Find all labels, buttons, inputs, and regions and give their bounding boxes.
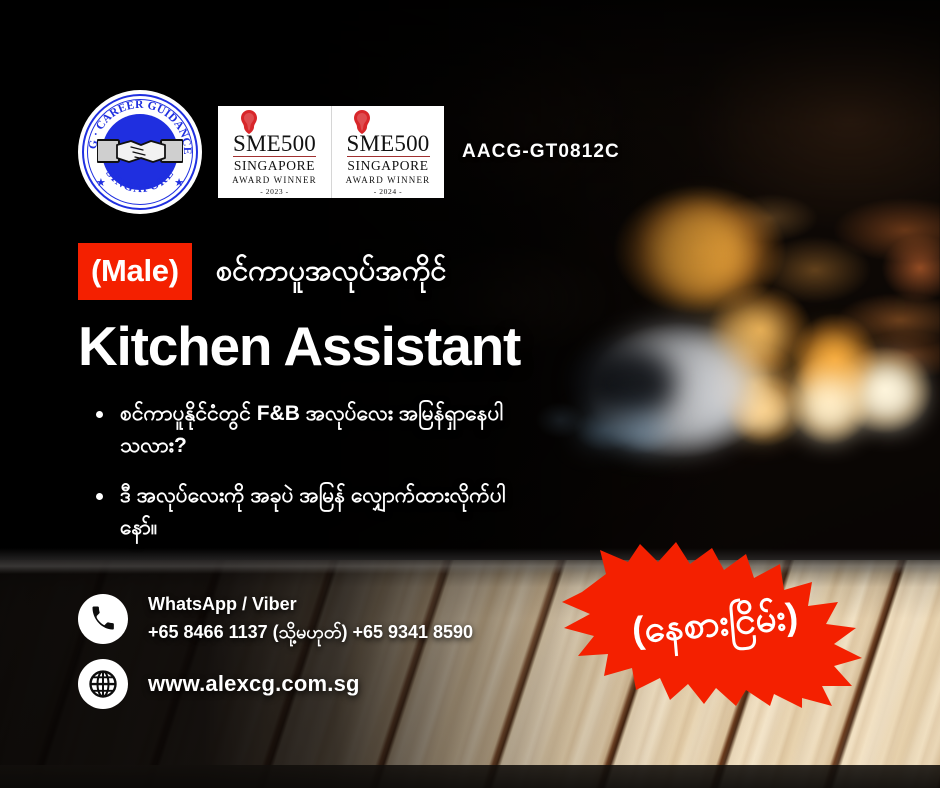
award-title: SME500 — [233, 132, 316, 157]
globe-icon[interactable] — [78, 659, 128, 709]
award-title: SME500 — [347, 132, 430, 157]
phone-text-group: WhatsApp / Viber +65 8466 1137 (သို့မဟုတ… — [148, 593, 473, 645]
contact-row-website[interactable]: www.alexcg.com.sg — [78, 659, 473, 709]
messaging-apps-label: WhatsApp / Viber — [148, 593, 473, 616]
job-title: Kitchen Assistant — [78, 318, 520, 376]
seal-star-right: ★ — [174, 178, 184, 189]
category-row: (Male) စင်ကာပူအလုပ်အကိုင် — [78, 243, 446, 300]
lion-head-icon — [351, 109, 373, 135]
poster-content: ALEX AUNG · CAREER GUIDANCE SERVICE SING… — [0, 0, 940, 788]
contact-block: WhatsApp / Viber +65 8466 1137 (သို့မဟုတ… — [78, 593, 473, 723]
seal-star-left: ★ — [96, 178, 106, 189]
lion-head-icon — [238, 109, 260, 135]
award-badge-2023: SME500 SINGAPORE AWARD WINNER - 2023 - — [218, 106, 331, 198]
list-item: ဒီ အလုပ်လေးကို အခုပဲ အမြန် လျှောက်ထားလို… — [92, 480, 522, 544]
gender-badge: (Male) — [78, 243, 192, 300]
header-row: ALEX AUNG · CAREER GUIDANCE SERVICE SING… — [78, 90, 620, 214]
job-category-label: စင်ကာပူအလုပ်အကိုင် — [216, 257, 447, 286]
award-country: SINGAPORE — [234, 158, 315, 175]
job-description-list: စင်ကာပူနိုင်ငံတွင် F&B အလုပ်လေး အမြန်ရှာ… — [92, 398, 522, 562]
award-badges-group: SME500 SINGAPORE AWARD WINNER - 2023 - S… — [218, 106, 444, 198]
award-badge-2024: SME500 SINGAPORE AWARD WINNER - 2024 - — [331, 106, 444, 198]
list-item: စင်ကာပူနိုင်ငံတွင် F&B အလုပ်လေး အမြန်ရှာ… — [92, 398, 522, 462]
website-text-group: www.alexcg.com.sg — [148, 671, 360, 697]
job-advertisement-poster: ALEX AUNG · CAREER GUIDANCE SERVICE SING… — [0, 0, 940, 788]
phone-numbers: +65 8466 1137 (သို့မဟုတ်) +65 9341 8590 — [148, 619, 473, 645]
phone-icon[interactable] — [78, 594, 128, 644]
contact-row-phone[interactable]: WhatsApp / Viber +65 8466 1137 (သို့မဟုတ… — [78, 593, 473, 645]
award-subtitle: AWARD WINNER — [232, 175, 317, 187]
handshake-icon — [97, 132, 183, 172]
award-subtitle: AWARD WINNER — [346, 175, 431, 187]
job-reference-code: AACG-GT0812C — [462, 141, 620, 163]
website-url[interactable]: www.alexcg.com.sg — [148, 671, 360, 697]
award-year: - 2024 - — [374, 187, 403, 197]
award-country: SINGAPORE — [347, 158, 428, 175]
award-year: - 2023 - — [260, 187, 289, 197]
starburst-badge: (နေစားငြိမ်း) — [556, 540, 874, 708]
company-seal-logo: ALEX AUNG · CAREER GUIDANCE SERVICE SING… — [78, 90, 202, 214]
